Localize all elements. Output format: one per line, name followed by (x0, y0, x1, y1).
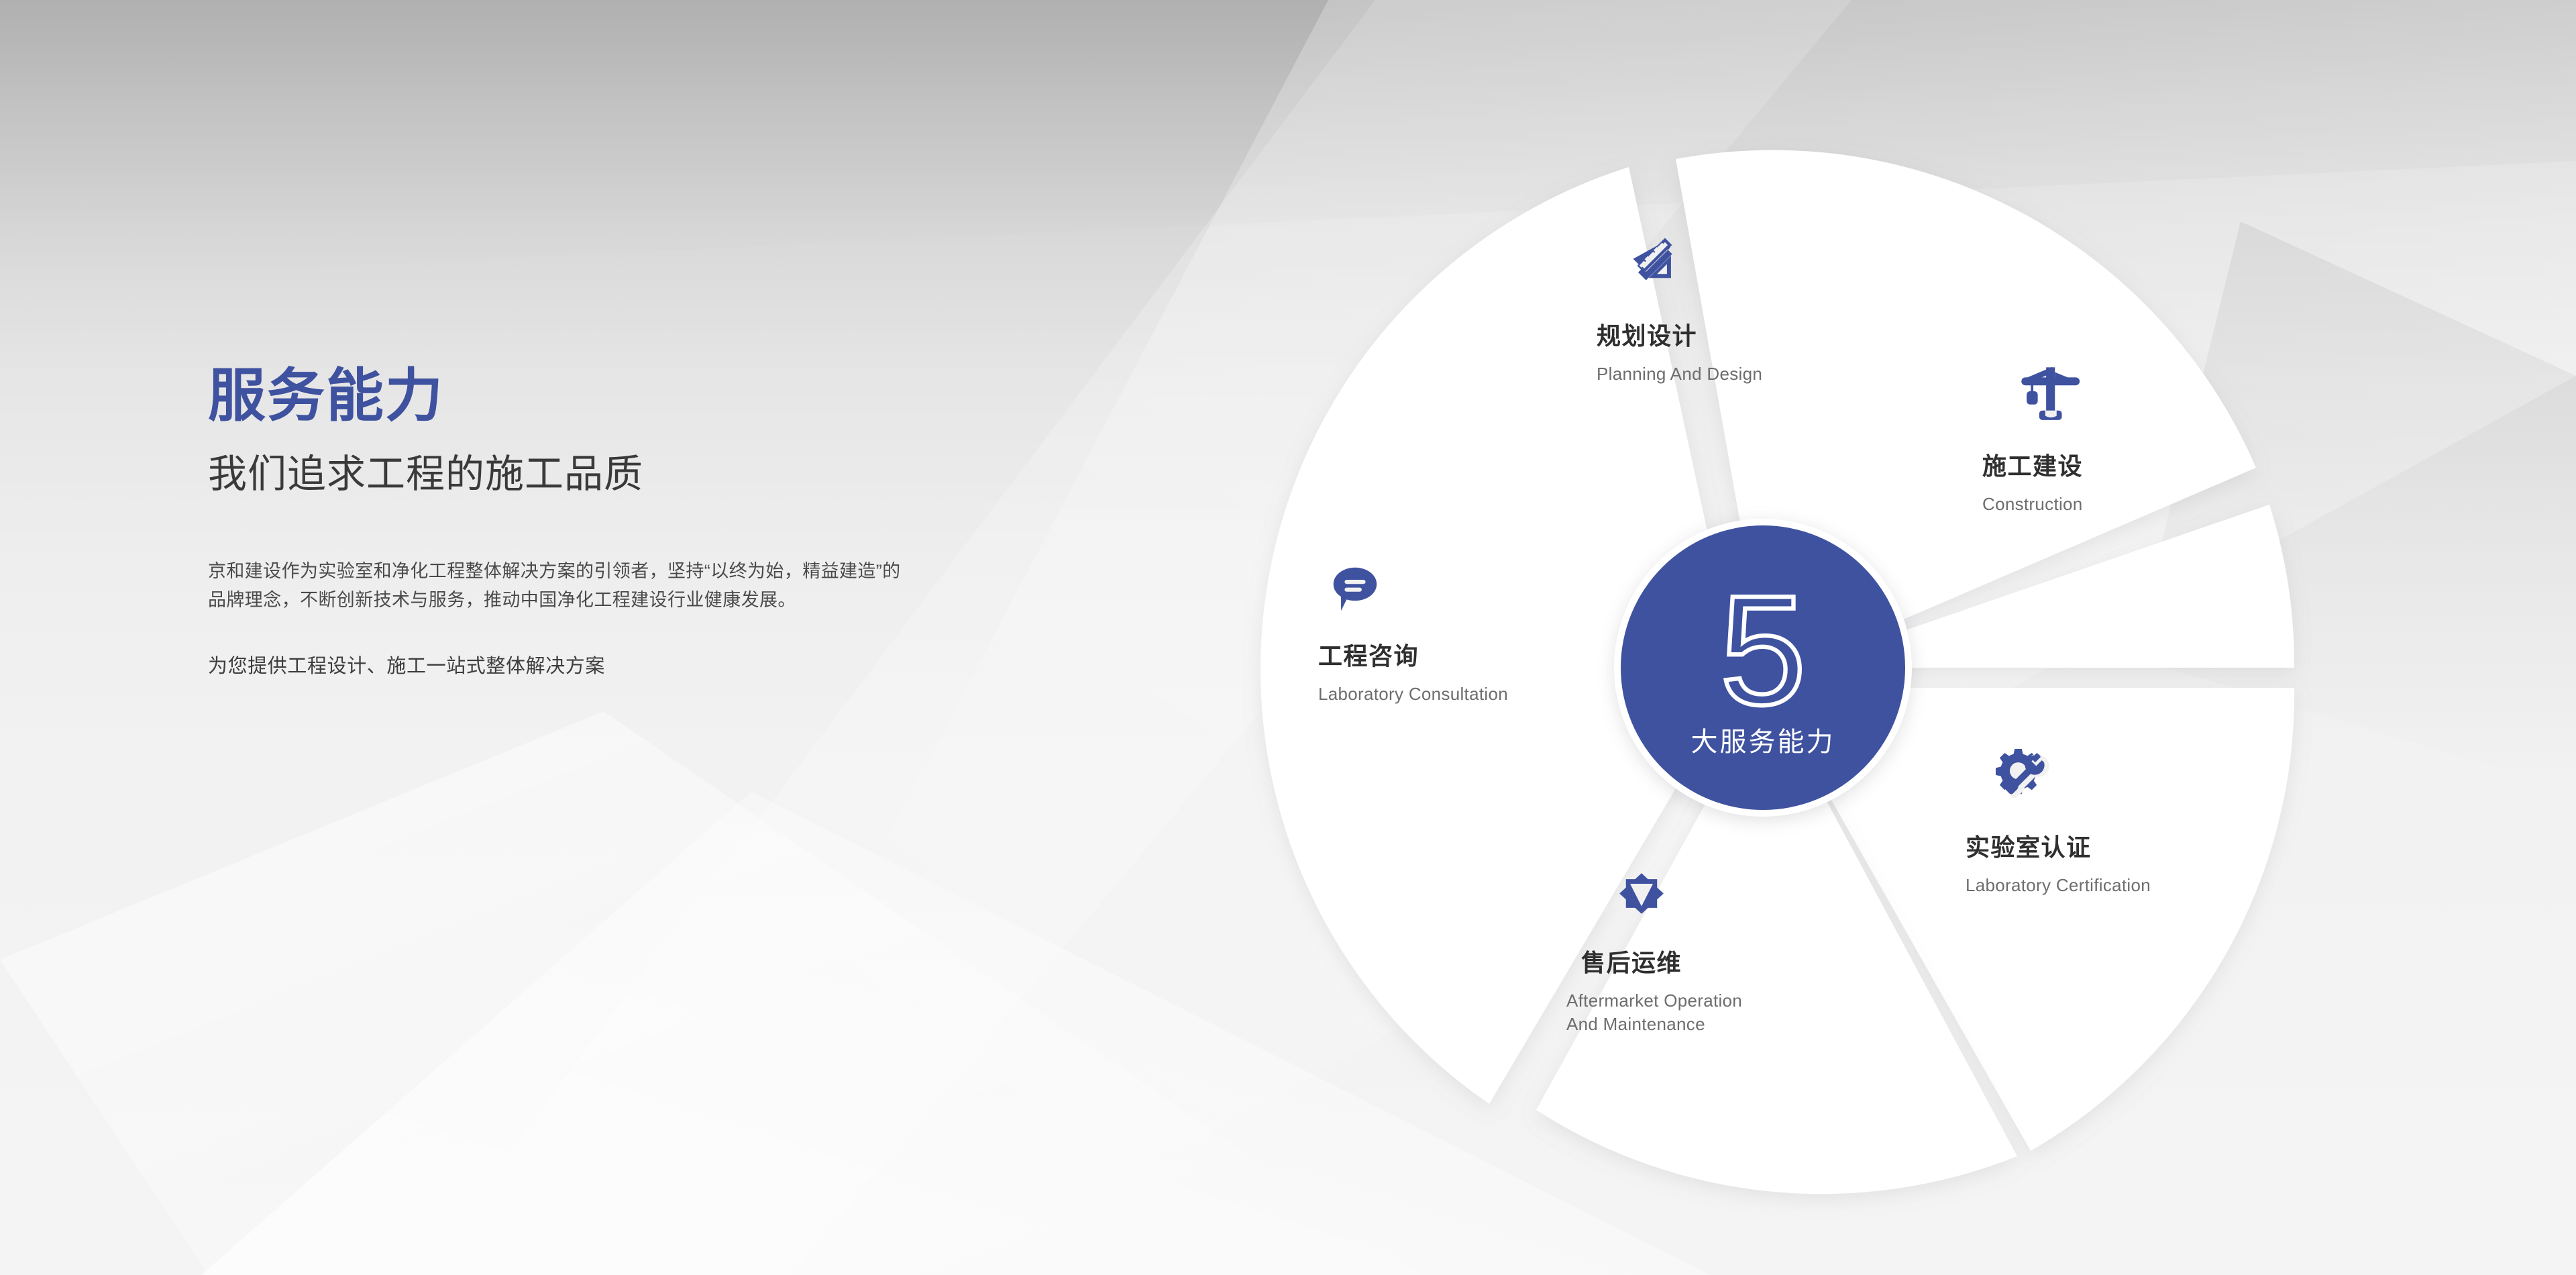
label-subtitle: Laboratory Certification (1966, 874, 2151, 897)
label-subtitle: Aftermarket Operation And Maintenance (1566, 989, 1742, 1036)
label-subtitle-line1: Planning And Design (1597, 362, 1762, 386)
label-aftermarket[interactable]: 售后运维 Aftermarket Operation And Maintenan… (1566, 866, 1742, 1036)
tower-crane-icon (2017, 361, 2084, 431)
label-title: 售后运维 (1581, 948, 1742, 977)
ruler-and-set-square-icon (1626, 234, 1762, 301)
page-title: 服务能力 (208, 366, 1161, 427)
slide-stage: 服务能力 我们追求工程的施工品质 京和建设作为实验室和净化工程整体解决方案的引领… (0, 0, 2576, 1275)
label-subtitle-line1: Aftermarket Operation (1566, 989, 1742, 1013)
center-hub-disc: 5 大服务能力 (1621, 525, 1905, 810)
left-text-block: 服务能力 我们追求工程的施工品质 京和建设作为实验室和净化工程整体解决方案的引领… (208, 366, 1161, 678)
label-construction[interactable]: 施工建设 Construction (1982, 361, 2084, 516)
label-title: 工程咨询 (1318, 642, 1508, 670)
hub-number-glyph: 5 (1719, 580, 1806, 712)
center-hub[interactable]: 5 大服务能力 (1614, 519, 1912, 817)
label-laboratory-certification[interactable]: 实验室认证 Laboratory Certification (1966, 745, 2151, 897)
label-subtitle: Laboratory Consultation (1318, 682, 1508, 706)
hub-number: 5 (1709, 580, 1817, 712)
tagline: 为您提供工程设计、施工一站式整体解决方案 (208, 650, 1161, 678)
label-title: 实验室认证 (1966, 833, 2151, 862)
label-consultation[interactable]: 工程咨询 Laboratory Consultation (1318, 560, 1508, 706)
page-subtitle: 我们追求工程的施工品质 (208, 451, 1161, 498)
star-badge-check-icon (1612, 866, 1742, 928)
label-subtitle-line1: Laboratory Certification (1966, 874, 2151, 897)
label-subtitle: Planning And Design (1597, 362, 1762, 386)
label-title: 规划设计 (1597, 321, 1762, 350)
label-subtitle-line1: Construction (1982, 493, 2084, 516)
label-title: 施工建设 (1982, 452, 2084, 480)
label-subtitle-line1: Laboratory Consultation (1318, 682, 1508, 706)
speech-bubble-icon (1326, 560, 1508, 621)
label-subtitle-line2: And Maintenance (1566, 1013, 1742, 1036)
label-subtitle: Construction (1982, 493, 2084, 516)
gear-and-wrench-icon (1988, 745, 2151, 813)
description-line-2: 品牌理念，不断创新技术与服务，推动中国净化工程建设行业健康发展。 (208, 586, 1161, 615)
description-paragraph: 京和建设作为实验室和净化工程整体解决方案的引领者，坚持“以终为始，精益建造”的 … (208, 557, 1161, 615)
hub-label: 大服务能力 (1691, 720, 1835, 759)
description-line-1: 京和建设作为实验室和净化工程整体解决方案的引领者，坚持“以终为始，精益建造”的 (208, 557, 1161, 586)
label-planning[interactable]: 规划设计 Planning And Design (1597, 234, 1762, 386)
